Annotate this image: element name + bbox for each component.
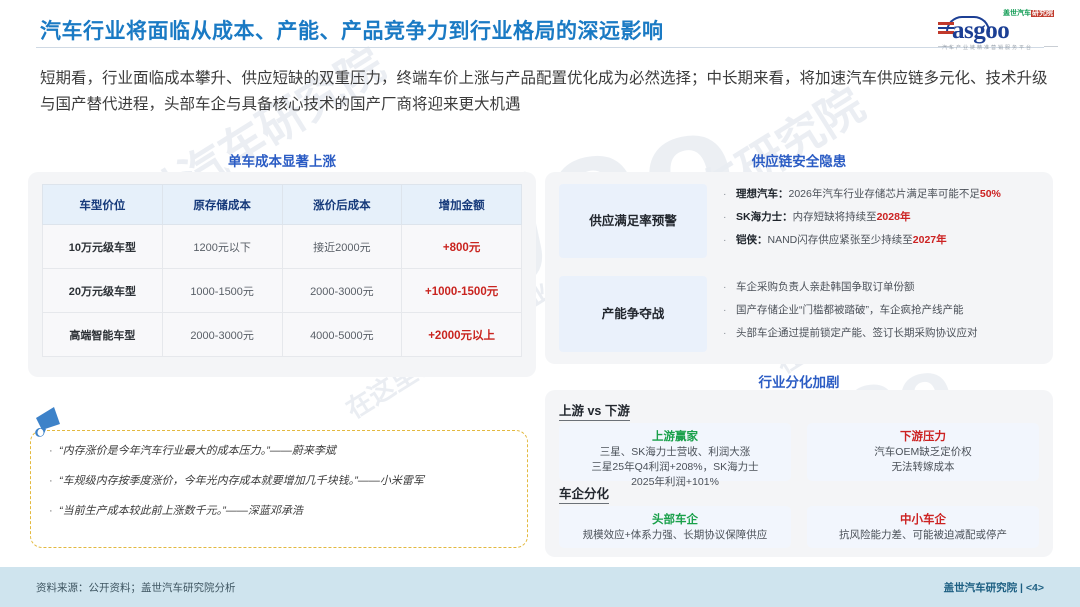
cost-table: 车型价位原存储成本涨价后成本增加金额 10万元级车型1200元以下接近2000元…	[42, 184, 522, 357]
supply-item: ·头部车企通过提前锁定产能、签订长期采购协议应对	[723, 326, 1039, 340]
supply-group-label: 产能争夺战	[559, 276, 707, 352]
table-cell: 2000-3000元	[282, 269, 402, 313]
bullet-icon: ·	[49, 444, 59, 459]
footer-source: 资料来源：公开资料；盖世汽车研究院分析	[36, 580, 236, 595]
industry-subtitle-upstream: 上游 vs 下游	[559, 400, 630, 421]
table-cell: 高端智能车型	[43, 313, 163, 357]
table-cell: 1200元以下	[162, 225, 282, 269]
logo-wordmark: asgoo	[952, 17, 1009, 45]
industry-card-line: 规模效应+体系力强、长期协议保障供应	[559, 528, 791, 543]
bullet-icon: ·	[723, 303, 736, 317]
footer-page: 盖世汽车研究院 | <4>	[944, 580, 1044, 595]
slide-footer: 资料来源：公开资料；盖世汽车研究院分析 盖世汽车研究院 | <4>	[0, 567, 1080, 607]
industry-panel: 上游 vs 下游 车企分化 上游赢家三星、SK海力士营收、利润大涨三星25年Q4…	[545, 390, 1053, 557]
bullet-icon: ·	[723, 210, 736, 224]
section-title-cost: 单车成本显著上涨	[28, 150, 536, 170]
quote-text: “车规级内存按季度涨价，今年光内存成本就要增加几千块钱。”——小米雷军	[59, 474, 424, 489]
supply-panel: 供应满足率预警·理想汽车：2026年汽车行业存储芯片满足率可能不足50%·SK海…	[545, 172, 1053, 364]
supply-group: 供应满足率预警·理想汽车：2026年汽车行业存储芯片满足率可能不足50%·SK海…	[559, 184, 1039, 258]
section-title-supply: 供应链安全隐患	[545, 150, 1053, 170]
column-header: 增加金额	[402, 185, 522, 225]
table-cell: 接近2000元	[282, 225, 402, 269]
supply-item: ·SK海力士：内存短缺将持续至2028年	[723, 210, 1039, 224]
table-row: 10万元级车型1200元以下接近2000元+800元	[43, 225, 522, 269]
bullet-icon: ·	[49, 474, 59, 489]
logo-cn-red: 研究院	[1031, 10, 1054, 17]
industry-card-title: 下游压力	[807, 429, 1039, 445]
supply-item-text: 国产存储企业“门槛都被踏破”，车企疯抢产线产能	[736, 303, 964, 317]
slide: Gasgoo 盖世汽车研究院 盖世汽车研究院 在这里读懂汽车产业 在这里读懂汽车…	[0, 0, 1080, 607]
table-header-row: 车型价位原存储成本涨价后成本增加金额	[43, 185, 522, 225]
industry-card-line: 无法转嫁成本	[807, 460, 1039, 475]
supply-item: ·铠侠：NAND闪存供应紧张至少持续至2027年	[723, 233, 1039, 247]
table-cell: 10万元级车型	[43, 225, 163, 269]
table-row: 20万元级车型1000-1500元2000-3000元+1000-1500元	[43, 269, 522, 313]
supply-item-text: SK海力士：内存短缺将持续至2028年	[736, 210, 910, 224]
table-cell: 1000-1500元	[162, 269, 282, 313]
supply-item-text: 铠侠：NAND闪存供应紧张至少持续至2027年	[736, 233, 947, 247]
bullet-icon: ·	[723, 187, 736, 201]
logo-tagline: 汽车产业链精准营销服务平台	[942, 44, 1033, 51]
supply-item-text: 头部车企通过提前锁定产能、签订长期采购协议应对	[736, 326, 978, 340]
bullet-icon: ·	[723, 233, 736, 247]
table-cell: 2000-3000元	[162, 313, 282, 357]
column-header: 车型价位	[43, 185, 163, 225]
supply-group-label: 供应满足率预警	[559, 184, 707, 258]
bullet-icon: ·	[723, 326, 736, 340]
industry-card-title: 上游赢家	[559, 429, 791, 445]
quote-item: ·“当前生产成本较此前上涨数千元。”——深蓝邓承浩	[49, 504, 513, 519]
quote-text: “当前生产成本较此前上涨数千元。”——深蓝邓承浩	[59, 504, 303, 519]
table-cell: +2000元以上	[402, 313, 522, 357]
slide-header: 汽车行业将面临从成本、产能、产品竞争力到行业格局的深远影响 盖世汽车研究院 as…	[0, 0, 1080, 56]
supply-item-list: ·理想汽车：2026年汽车行业存储芯片满足率可能不足50%·SK海力士：内存短缺…	[707, 187, 1039, 256]
megaphone-icon	[30, 404, 74, 440]
supply-item-text: 车企采购负责人亲赴韩国争取订单份额	[736, 280, 915, 294]
industry-card-line: 抗风险能力差、可能被迫减配或停产	[807, 528, 1039, 543]
industry-card-title: 头部车企	[559, 512, 791, 528]
table-cell: 4000-5000元	[282, 313, 402, 357]
industry-card: 下游压力汽车OEM缺乏定价权无法转嫁成本	[807, 423, 1039, 481]
supply-group: 产能争夺战·车企采购负责人亲赴韩国争取订单份额·国产存储企业“门槛都被踏破”，车…	[559, 276, 1039, 352]
gasgoo-logo: 盖世汽车研究院 asgoo 汽车产业链精准营销服务平台	[938, 8, 1058, 52]
table-cell: +1000-1500元	[402, 269, 522, 313]
industry-card-title: 中小车企	[807, 512, 1039, 528]
industry-card-line: 三星25年Q4利润+208%，SK海力士	[559, 460, 791, 475]
supply-item-text: 理想汽车：2026年汽车行业存储芯片满足率可能不足50%	[736, 187, 1001, 201]
quote-item: ·“内存涨价是今年汽车行业最大的成本压力。”——蔚来李斌	[49, 444, 513, 459]
industry-card-line: 汽车OEM缺乏定价权	[807, 445, 1039, 460]
industry-card: 头部车企规模效应+体系力强、长期协议保障供应	[559, 506, 791, 548]
cost-panel: 车型价位原存储成本涨价后成本增加金额 10万元级车型1200元以下接近2000元…	[28, 172, 536, 377]
table-cell: 20万元级车型	[43, 269, 163, 313]
column-header: 原存储成本	[162, 185, 282, 225]
industry-card-line: 三星、SK海力士营收、利润大涨	[559, 445, 791, 460]
logo-cn-green: 盖世汽车	[1003, 10, 1031, 17]
logo-chinese-text: 盖世汽车研究院	[1003, 8, 1054, 18]
supply-item: ·理想汽车：2026年汽车行业存储芯片满足率可能不足50%	[723, 187, 1039, 201]
quote-text: “内存涨价是今年汽车行业最大的成本压力。”——蔚来李斌	[59, 444, 336, 459]
supply-item-list: ·车企采购负责人亲赴韩国争取订单份额·国产存储企业“门槛都被踏破”，车企疯抢产线…	[707, 280, 1039, 349]
section-title-industry: 行业分化加剧	[545, 371, 1053, 391]
quotes-box: ·“内存涨价是今年汽车行业最大的成本压力。”——蔚来李斌·“车规级内存按季度涨价…	[30, 430, 528, 548]
table-row: 高端智能车型2000-3000元4000-5000元+2000元以上	[43, 313, 522, 357]
quote-item: ·“车规级内存按季度涨价，今年光内存成本就要增加几千块钱。”——小米雷军	[49, 474, 513, 489]
bullet-icon: ·	[49, 504, 59, 519]
logo-rule-right	[1044, 46, 1058, 47]
table-cell: +800元	[402, 225, 522, 269]
industry-card-line: 2025年利润+101%	[559, 475, 791, 490]
quotes-list: ·“内存涨价是今年汽车行业最大的成本压力。”——蔚来李斌·“车规级内存按季度涨价…	[31, 431, 527, 519]
supply-item: ·国产存储企业“门槛都被踏破”，车企疯抢产线产能	[723, 303, 1039, 317]
supply-item: ·车企采购负责人亲赴韩国争取订单份额	[723, 280, 1039, 294]
lead-paragraph: 短期看，行业面临成本攀升、供应短缺的双重压力，终端车价上涨与产品配置优化成为必然…	[40, 66, 1048, 118]
page-title: 汽车行业将面临从成本、产能、产品竞争力到行业格局的深远影响	[40, 15, 664, 45]
industry-card: 中小车企抗风险能力差、可能被迫减配或停产	[807, 506, 1039, 548]
bullet-icon: ·	[723, 280, 736, 294]
industry-card: 上游赢家三星、SK海力士营收、利润大涨三星25年Q4利润+208%，SK海力士2…	[559, 423, 791, 481]
title-divider	[36, 47, 1044, 48]
column-header: 涨价后成本	[282, 185, 402, 225]
